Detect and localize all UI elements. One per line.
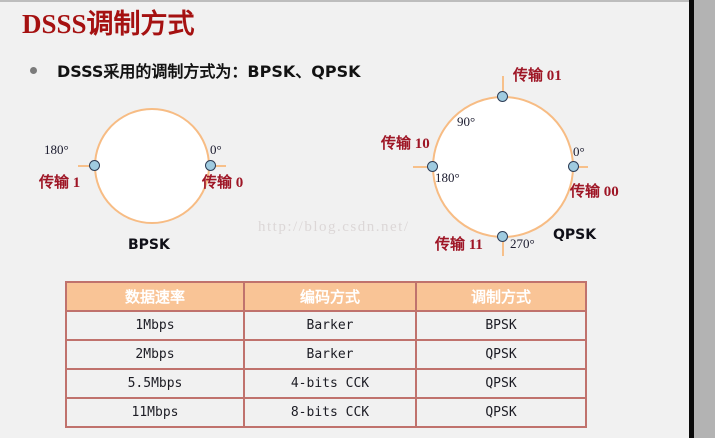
qpsk-point-270 [497,231,508,242]
table-cell-coding: Barker [244,311,416,340]
table-cell-rate: 5.5Mbps [66,369,244,398]
qpsk-angle-label-180: 180° [435,170,460,186]
qpsk-tx-label-10: 传输 10 [381,132,430,153]
qpsk-constellation-diagram: 90° 180° 0° 270° 传输 01 传输 10 传输 00 传输 11… [385,62,675,262]
table-cell-rate: 2Mbps [66,340,244,369]
qpsk-point-90 [497,91,508,102]
table-row: 1Mbps Barker BPSK [66,311,586,340]
bpsk-point-180 [89,160,100,171]
qpsk-tx-label-00: 传输 00 [570,180,619,201]
table-cell-coding: Barker [244,340,416,369]
bpsk-tx-label-0: 传输 0 [202,171,243,192]
bpsk-tx-label-1: 传输 1 [39,171,80,192]
table-header-row: 数据速率 编码方式 调制方式 [66,282,586,311]
table-cell-modulation: QPSK [416,398,586,427]
bullet-text: DSSS采用的调制方式为：BPSK、QPSK [57,58,361,82]
qpsk-caption: QPSK [553,227,596,243]
qpsk-angle-label-0: 0° [573,144,585,160]
bpsk-caption: BPSK [128,237,170,253]
bpsk-unit-circle [94,108,210,224]
bpsk-point-0 [205,160,216,171]
table-cell-modulation: BPSK [416,311,586,340]
slide-canvas: DSSS调制方式 DSSS采用的调制方式为：BPSK、QPSK http://b… [0,0,715,438]
right-gutter [694,0,715,438]
table-cell-rate: 11Mbps [66,398,244,427]
table-cell-modulation: QPSK [416,369,586,398]
bullet-row: DSSS采用的调制方式为：BPSK、QPSK [30,58,361,82]
table-row: 5.5Mbps 4-bits CCK QPSK [66,369,586,398]
table-cell-rate: 1Mbps [66,311,244,340]
qpsk-tx-label-01: 传输 01 [513,64,562,85]
qpsk-tx-label-11: 传输 11 [435,233,483,254]
bpsk-angle-label-180: 180° [44,142,69,158]
table-cell-coding: 8-bits CCK [244,398,416,427]
bpsk-constellation-diagram: 180° 0° 传输 1 传输 0 BPSK [30,100,280,260]
table-header-cell: 编码方式 [244,282,416,311]
bpsk-angle-label-0: 0° [210,142,222,158]
bullet-dot-icon [30,67,37,74]
dsss-rate-table: 数据速率 编码方式 调制方式 1Mbps Barker BPSK 2Mbps B… [65,281,587,428]
table-row: 2Mbps Barker QPSK [66,340,586,369]
qpsk-angle-label-270: 270° [510,236,535,252]
table-header-cell: 调制方式 [416,282,586,311]
qpsk-unit-circle [432,96,574,238]
table-header-cell: 数据速率 [66,282,244,311]
page-title: DSSS调制方式 [22,2,195,41]
table-row: 11Mbps 8-bits CCK QPSK [66,398,586,427]
qpsk-angle-label-90: 90° [457,114,475,130]
table-cell-modulation: QPSK [416,340,586,369]
qpsk-point-0 [568,161,579,172]
table-cell-coding: 4-bits CCK [244,369,416,398]
